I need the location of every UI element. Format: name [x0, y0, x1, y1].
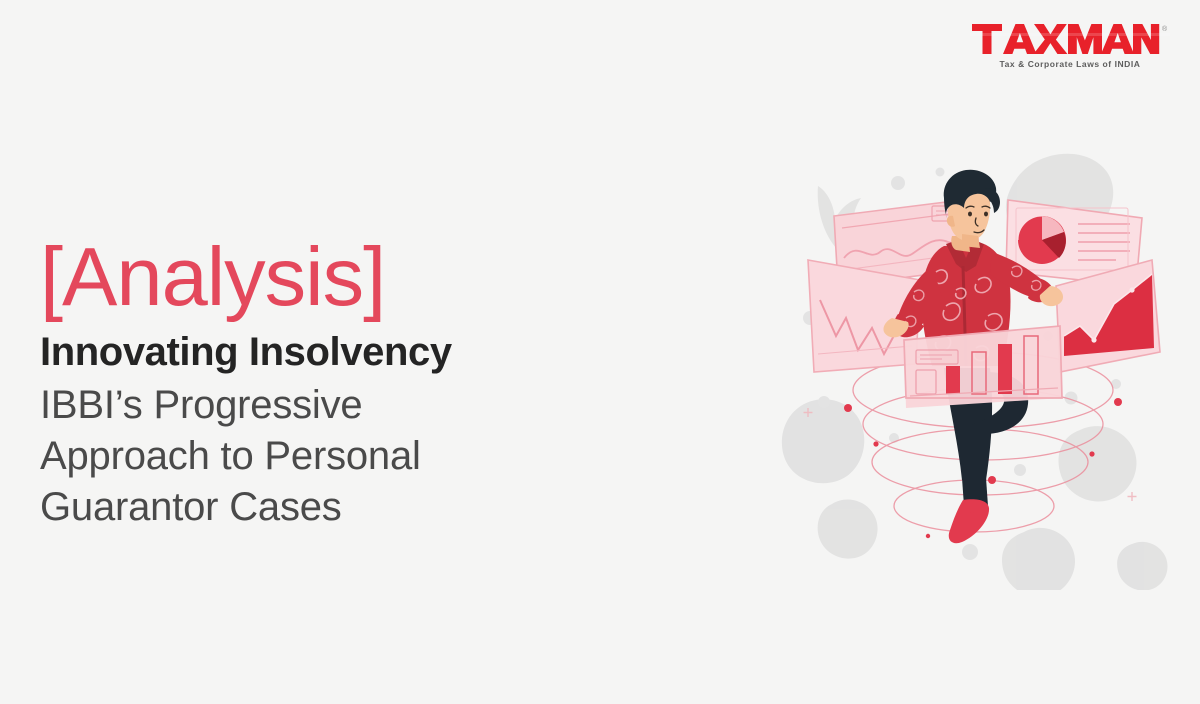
headline-secondary: IBBI’s Progressive Approach to Personal … [40, 380, 640, 532]
headline-block: [Analysis] Innovating Insolvency IBBI’s … [40, 238, 640, 533]
analysis-eyebrow: [Analysis] [40, 238, 640, 315]
taxmann-wordmark-icon: ® [970, 22, 1170, 56]
headline-secondary-line-3: Guarantor Cases [40, 482, 640, 533]
headline-secondary-line-1: IBBI’s Progressive [40, 380, 640, 431]
figure-head [944, 170, 1000, 252]
headline-secondary-line-2: Approach to Personal [40, 431, 640, 482]
bar-chart-panel [904, 326, 1062, 408]
headline-primary: Innovating Insolvency [40, 331, 640, 374]
banner-canvas: ® Tax & Corporate Laws of INDIA [Analysi… [0, 0, 1200, 704]
pie-chart-glyph [1018, 216, 1066, 264]
taxmann-logo[interactable]: ® Tax & Corporate Laws of INDIA [970, 22, 1170, 69]
svg-text:®: ® [1162, 25, 1168, 33]
taxmann-tagline: Tax & Corporate Laws of INDIA [970, 59, 1170, 69]
data-analyst-illustration [780, 140, 1190, 590]
